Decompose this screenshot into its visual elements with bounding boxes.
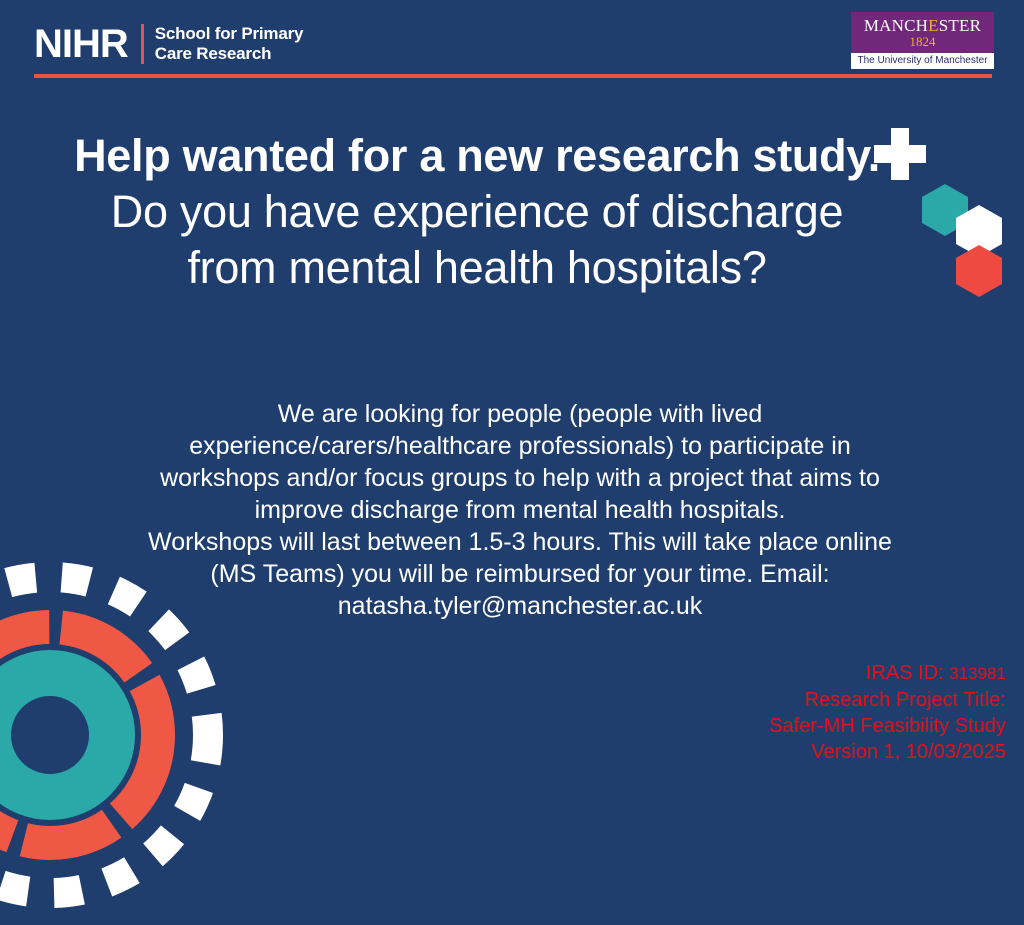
uom-name-part3: ST: [939, 16, 959, 35]
uom-name-part1: MANCH: [864, 16, 928, 35]
poster-header: NIHR School for Primary Care Research MA…: [0, 0, 1024, 90]
poster-body: We are looking for people (people with l…: [140, 398, 900, 622]
footer-version: Version 1, 10/03/2025: [769, 739, 1006, 765]
footer-iras-number: 313981: [949, 664, 1006, 683]
uom-name-part2: E: [928, 16, 939, 35]
poster-title: Help wanted for a new research study. Do…: [62, 128, 892, 296]
uom-wordmark: MANCHESTER: [851, 17, 994, 35]
uom-year: 1824: [851, 35, 994, 49]
footer-project-title-label: Research Project Title:: [769, 687, 1006, 713]
footer-iras-line: IRAS ID: 313981: [769, 660, 1006, 687]
poster-footer: IRAS ID: 313981 Research Project Title: …: [769, 660, 1006, 765]
hexagon-red-icon: [956, 245, 1002, 297]
uom-logo-top: MANCHESTER 1824: [851, 12, 994, 53]
university-of-manchester-logo: MANCHESTER 1824 The University of Manche…: [851, 12, 994, 69]
poster-body-paragraph-1: We are looking for people (people with l…: [160, 400, 880, 524]
uom-strapline: The University of Manchester: [851, 53, 994, 69]
poster-body-paragraph-2: Workshops will last between 1.5-3 hours.…: [148, 528, 892, 620]
poster-title-bold: Help wanted for a new research study.: [74, 130, 880, 181]
header-divider-rule: [34, 74, 992, 78]
poster-title-regular: Do you have experience of discharge from…: [111, 186, 843, 293]
plus-icon-vertical-bar: [891, 128, 909, 180]
nihr-logo: NIHR School for Primary Care Research: [34, 24, 303, 64]
uom-name-part4: ER: [959, 16, 981, 35]
nihr-subtitle-line2: Care Research: [155, 44, 271, 63]
nihr-divider: [141, 24, 144, 64]
footer-project-title: Safer-MH Feasibility Study: [769, 713, 1006, 739]
footer-iras-label: IRAS ID:: [866, 662, 944, 684]
nihr-subtitle: School for Primary Care Research: [155, 24, 304, 64]
nihr-subtitle-line1: School for Primary: [155, 24, 304, 43]
nihr-wordmark: NIHR: [34, 24, 128, 64]
